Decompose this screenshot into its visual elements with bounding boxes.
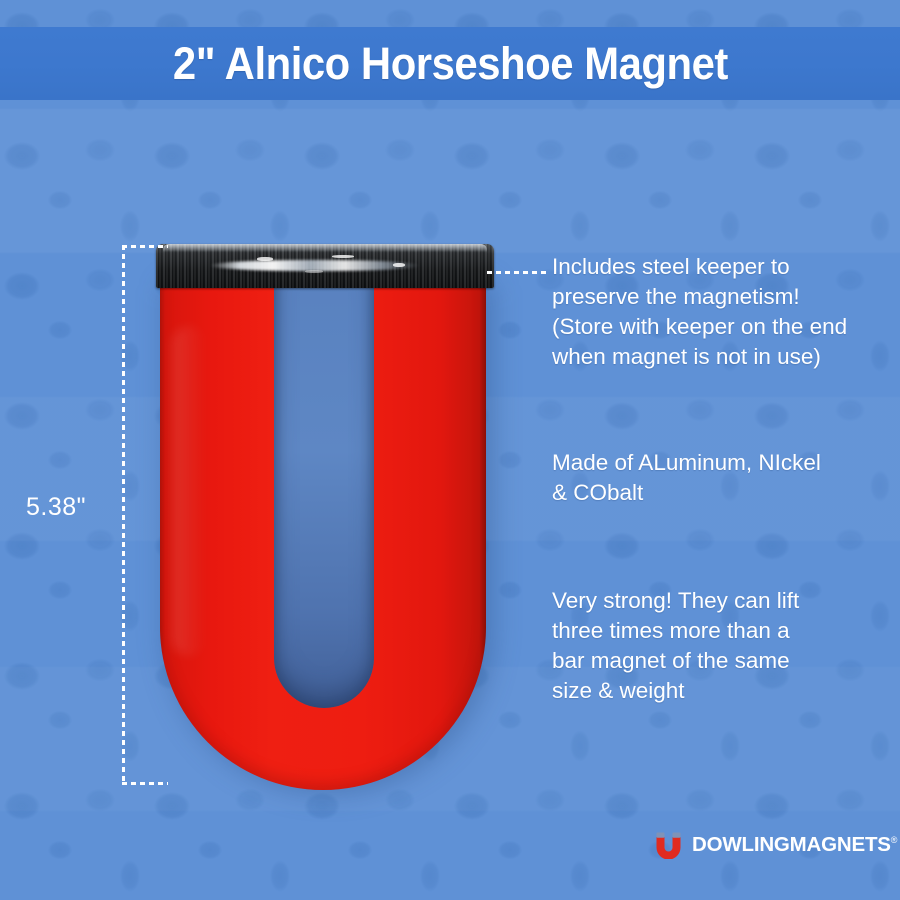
dimension-label: 5.38" (26, 493, 86, 522)
keeper-top-sheen (163, 244, 487, 252)
dimension-tick-top (122, 245, 168, 248)
annotation-material-note: Made of ALuminum, NIckel & CObalt (552, 448, 882, 508)
annotation-line: size & weight (552, 676, 882, 706)
annotation-keeper-note: Includes steel keeper to preserve the ma… (552, 252, 882, 372)
dimension-line-vertical (122, 245, 125, 785)
annotation-line: (Store with keeper on the end (552, 312, 882, 342)
dimension-tick-bottom (122, 782, 168, 785)
page-title: 2" Alnico Horseshoe Magnet (172, 41, 727, 86)
annotation-line: Includes steel keeper to (552, 252, 882, 282)
annotation-line: three times more than a (552, 616, 882, 646)
magnet-gloss-highlight (172, 326, 206, 656)
magnet-image (150, 236, 500, 802)
annotation-line: Very strong! They can lift (552, 586, 882, 616)
steel-keeper-bar (156, 244, 494, 288)
title-banner: 2" Alnico Horseshoe Magnet (0, 27, 900, 100)
brand-logo: DOWLINGMAGNETS® (654, 832, 897, 859)
keeper-speck (305, 270, 323, 273)
annotation-line: bar magnet of the same (552, 646, 882, 676)
annotation-line: preserve the magnetism! (552, 282, 882, 312)
annotation-strength-note: Very strong! They can lift three times m… (552, 586, 882, 706)
callout-leader-line (487, 271, 549, 274)
magnet-inner-gap (274, 280, 374, 708)
brand-name-text: DOWLINGMAGNETS (692, 833, 891, 856)
annotation-line: & CObalt (552, 478, 882, 508)
registered-trademark-symbol: ® (891, 835, 897, 845)
height-dimension-bracket (122, 245, 168, 785)
annotation-line: Made of ALuminum, NIckel (552, 448, 882, 478)
brand-name: DOWLINGMAGNETS® (692, 835, 897, 856)
annotation-list: Includes steel keeper to preserve the ma… (552, 252, 882, 706)
annotation-line: when magnet is not in use) (552, 342, 882, 372)
horseshoe-magnet-icon (654, 832, 683, 859)
product-infographic: 2" Alnico Horseshoe Magnet 5.38" Include… (0, 0, 900, 900)
